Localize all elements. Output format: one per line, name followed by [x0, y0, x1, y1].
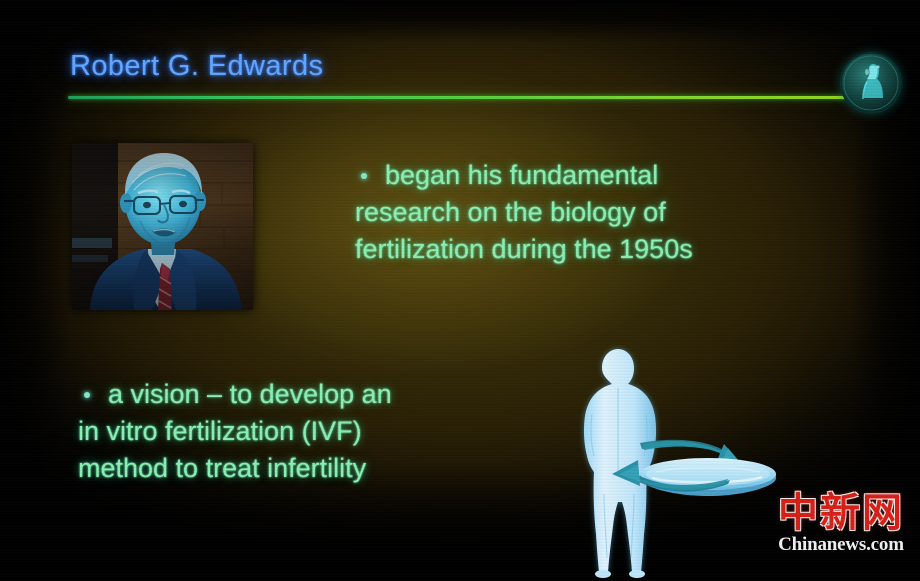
slide-title: Robert G. Edwards — [70, 50, 323, 83]
bullet-1-line-1: began his fundamental — [355, 157, 693, 194]
presentation-slide: Robert G. Edwards — [0, 0, 920, 581]
ivf-cycle-diagram — [556, 344, 776, 581]
bullet-dot-icon — [361, 173, 367, 179]
nobel-medal-icon — [840, 52, 902, 114]
robert-edwards-photo — [72, 143, 253, 310]
title-underline-rule — [68, 96, 846, 99]
watermark-chinese-text: 中新网 — [770, 492, 912, 534]
vignette-left — [0, 0, 70, 581]
bullet-item-2: a vision – to develop an in vitro fertil… — [78, 376, 392, 487]
bullet-1-text-1: began his fundamental — [385, 160, 658, 190]
bullet-item-1: began his fundamental research on the bi… — [355, 157, 693, 268]
watermark-latin-text: Chinanews.com — [770, 534, 912, 555]
bullet-2-text-1: a vision – to develop an — [108, 379, 392, 409]
bullet-1-line-2: research on the biology of — [355, 194, 693, 231]
vignette-top — [0, 0, 920, 42]
bullet-2-line-2: in vitro fertilization (IVF) — [78, 413, 392, 450]
chinanews-watermark: 中新网 Chinanews.com — [770, 492, 912, 555]
bullet-dot-icon — [84, 392, 90, 398]
bullet-2-line-3: method to treat infertility — [78, 450, 392, 487]
bullet-1-line-3: fertilization during the 1950s — [355, 231, 693, 268]
bullet-2-line-1: a vision – to develop an — [78, 376, 392, 413]
